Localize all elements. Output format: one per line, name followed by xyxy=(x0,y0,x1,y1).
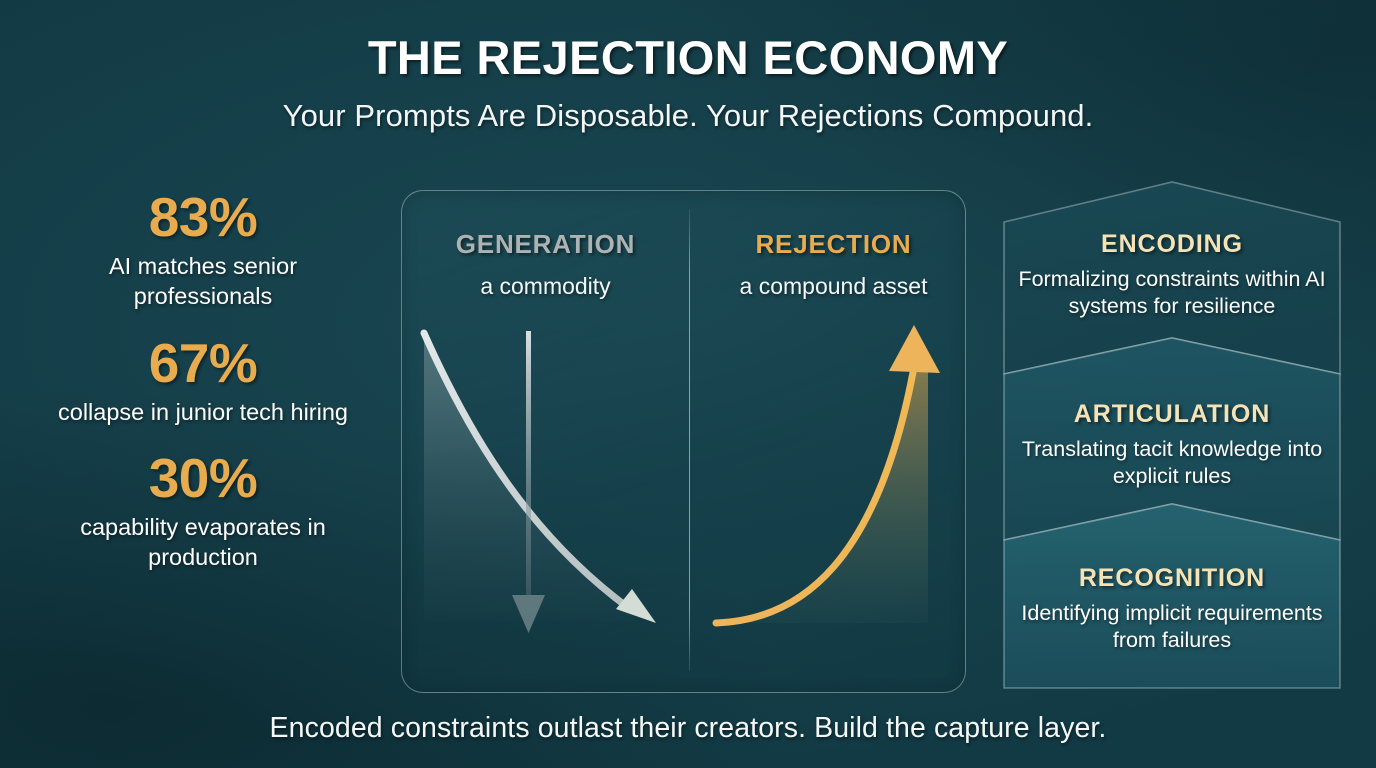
pyramid-tier: ARTICULATION Translating tacit knowledge… xyxy=(1006,400,1338,491)
tier-description: Identifying implicit requirements from f… xyxy=(1006,600,1338,655)
declining-curve-arrow-icon xyxy=(402,321,689,651)
stat-value: 83% xyxy=(38,188,368,247)
tier-title: ENCODING xyxy=(1006,230,1338,259)
stat-item: 83% AI matches senior professionals xyxy=(38,188,368,312)
exponential-growth-arrow-icon xyxy=(690,321,966,651)
tier-description: Formalizing constraints within AI system… xyxy=(1006,266,1338,321)
generation-subtitle: a commodity xyxy=(402,273,689,300)
tier-title: ARTICULATION xyxy=(1006,400,1338,429)
stat-item: 30% capability evaporates in production xyxy=(38,449,368,573)
comparison-panel: GENERATION a commodity xyxy=(401,190,966,693)
rejection-column: REJECTION a compound asset xyxy=(690,191,966,692)
page-title: THE REJECTION ECONOMY xyxy=(0,34,1376,81)
generation-heading: GENERATION a commodity xyxy=(402,229,689,300)
generation-title: GENERATION xyxy=(402,229,689,260)
rejection-title: REJECTION xyxy=(690,229,966,260)
stat-label: collapse in junior tech hiring xyxy=(38,397,368,427)
rejection-subtitle: a compound asset xyxy=(690,273,966,300)
generation-column: GENERATION a commodity xyxy=(402,191,689,692)
stat-label: AI matches senior professionals xyxy=(38,251,368,311)
capability-pyramid: ENCODING Formalizing constraints within … xyxy=(998,178,1346,694)
stat-label: capability evaporates in production xyxy=(38,512,368,572)
footer-tagline: Encoded constraints outlast their creato… xyxy=(0,712,1376,745)
stat-value: 67% xyxy=(38,334,368,393)
statistics-column: 83% AI matches senior professionals 67% … xyxy=(38,188,368,573)
page-subtitle: Your Prompts Are Disposable. Your Reject… xyxy=(0,98,1376,134)
pyramid-tier: ENCODING Formalizing constraints within … xyxy=(1006,230,1338,321)
tier-description: Translating tacit knowledge into explici… xyxy=(1006,436,1338,491)
header: THE REJECTION ECONOMY Your Prompts Are D… xyxy=(0,34,1376,134)
pyramid-tier: RECOGNITION Identifying implicit require… xyxy=(1006,564,1338,655)
stat-item: 67% collapse in junior tech hiring xyxy=(38,334,368,427)
rejection-heading: REJECTION a compound asset xyxy=(690,229,966,300)
tier-title: RECOGNITION xyxy=(1006,564,1338,593)
stat-value: 30% xyxy=(38,449,368,508)
